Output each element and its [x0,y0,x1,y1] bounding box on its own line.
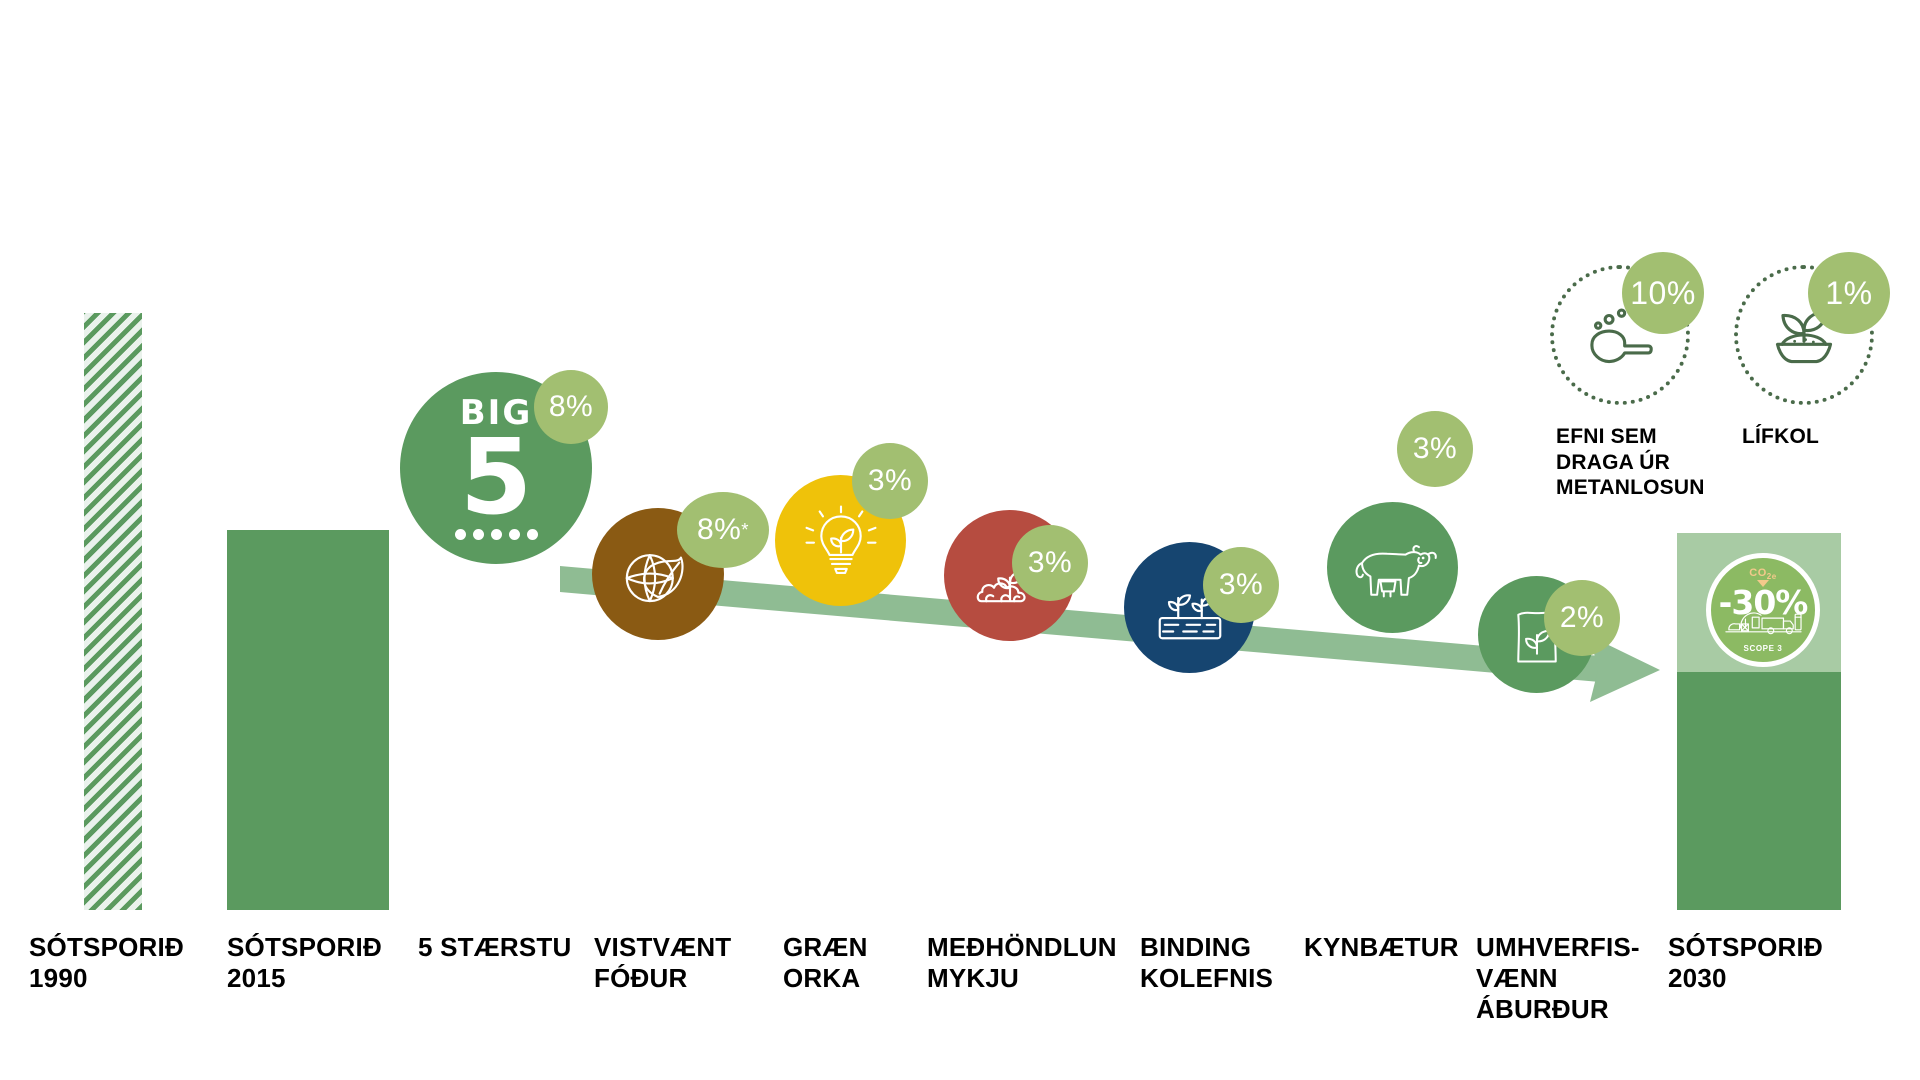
label-5-staerstu: 5 STÆRSTU [418,932,588,963]
badge-value: 2% [1560,601,1604,635]
target-seal-minus30: CO2e -30% [1706,553,1820,667]
infographic-canvas: BIG 5 8% 8%* [0,0,1920,1080]
label-line-1: MEÐHÖNDLUN [927,932,1147,963]
badge-vistvaent-fodur: 8%* [677,492,769,568]
label-line-1: VISTVÆNT [594,932,764,963]
label-line-1: EFNI SEM [1556,424,1746,450]
badge-graen-orka: 3% [852,443,928,519]
label-line-3: METANLOSUN [1556,475,1746,501]
badge-value: 3% [1413,432,1457,466]
bar-sotsporid-2030 [1677,672,1841,910]
cow-icon [1347,522,1439,614]
label-sotsporid-2030: SÓTSPORIÐ 2030 [1668,932,1858,994]
label-graen-orka: GRÆN ORKA [783,932,933,994]
seal-unit-label: CO2e [1749,567,1776,581]
label-sotsporid-1990: SÓTSPORIÐ 1990 [29,932,209,994]
side-label-lifkol: LÍFKOL [1742,424,1920,450]
badge-efni-metanlosun: 10% [1622,252,1704,334]
farm-scene-icon [1711,606,1815,640]
badge-value: 3% [1028,546,1072,580]
label-line-1: LÍFKOL [1742,424,1920,450]
label-line-1: SÓTSPORIÐ [227,932,407,963]
badge-value: 1% [1825,275,1872,312]
side-label-efni-metanlosun: EFNI SEM DRAGA ÚR METANLOSUN [1556,424,1746,501]
bar-sotsporid-1990 [84,313,142,910]
label-line-2: 1990 [29,963,209,994]
seal-unit: CO [1749,567,1767,579]
badge-value: 3% [1219,568,1263,602]
label-line-2: VÆNN [1476,963,1661,994]
label-line-1: BINDING [1140,932,1320,963]
big5-logo: BIG 5 [455,396,538,541]
badge-kynbaetur: 3% [1397,411,1473,487]
badge-medhondlun-mykju: 3% [1012,525,1088,601]
label-line-1: UMHVERFIS- [1476,932,1661,963]
big5-number: 5 [455,430,538,526]
label-line-2: FÓÐUR [594,963,764,994]
label-line-3: ÁBURÐUR [1476,994,1661,1025]
label-line-1: SÓTSPORIÐ [29,932,209,963]
label-line-2: ORKA [783,963,933,994]
label-line-2: 2030 [1668,963,1858,994]
label-binding-kolefnis: BINDING KOLEFNIS [1140,932,1320,994]
label-kynbaetur: KYNBÆTUR [1304,932,1494,963]
badge-lifkol: 1% [1808,252,1890,334]
bar-sotsporid-2015 [227,530,389,910]
badge-5-staerstu: 8% [534,370,608,444]
badge-umhverfisvaenn-aburdur: 2% [1544,580,1620,656]
label-sotsporid-2015: SÓTSPORIÐ 2015 [227,932,407,994]
badge-value: 10% [1630,275,1696,312]
badge-binding-kolefnis: 3% [1203,547,1279,623]
label-line-2: KOLEFNIS [1140,963,1320,994]
label-umhverfisvaenn-aburdur: UMHVERFIS- VÆNN ÁBURÐUR [1476,932,1661,1026]
step-circle-kynbaetur[interactable] [1327,502,1458,633]
label-line-2: DRAGA ÚR [1556,450,1746,476]
label-medhondlun-mykju: MEÐHÖNDLUN MYKJU [927,932,1147,994]
label-vistvaent-fodur: VISTVÆNT FÓÐUR [594,932,764,994]
label-line-2: 2015 [227,963,407,994]
badge-value: 8% [549,390,593,424]
label-line-1: GRÆN [783,932,933,963]
badge-value: 8% [697,513,741,547]
badge-value: 3% [868,464,912,498]
label-line-2: MYKJU [927,963,1147,994]
label-line-1: 5 STÆRSTU [418,932,588,963]
seal-scope: SCOPE 3 [1744,644,1783,653]
label-line-1: SÓTSPORIÐ [1668,932,1858,963]
label-line-1: KYNBÆTUR [1304,932,1494,963]
